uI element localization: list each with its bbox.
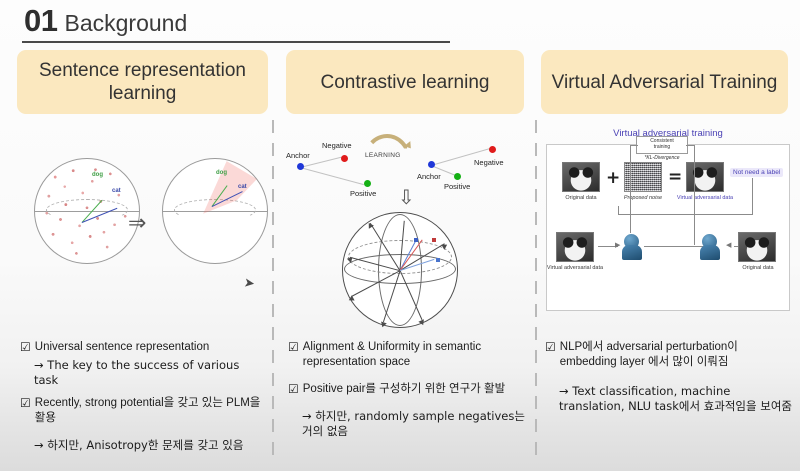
caption-original-data: Original data [554,195,608,201]
checkbox-icon: ☑ [545,340,556,355]
bullet-list-column-3: ☑ NLP에서 adversarial perturbation이 embedd… [545,340,793,423]
word-label-cat-left: cat [112,188,121,194]
figure-contrastive-learning: LEARNING Anchor Negative Positive Anchor… [286,130,530,330]
caption-original-data-bottom: Original data [730,265,786,271]
bullet-subtext: → 하지만, randomly sample negatives는 거의 없음 [302,409,530,439]
caption-proposed-noise: Proposed noise [616,195,670,201]
caption-virtual-adversarial-data: Virtual adversarial data [674,195,736,201]
panda-virtual-adversarial-bottom [556,232,594,262]
transform-arrow: ⇒ [128,211,146,236]
checkbox-icon: ☑ [288,340,299,355]
feedback-line-vertical-right [752,178,753,215]
positive-label-before: Positive [350,189,376,198]
anchor-label-after: Anchor [417,172,441,181]
consistency-bracket-top-left [630,145,638,146]
checkbox-icon: ☑ [20,396,31,411]
not-need-label-badge: Not need a label [730,168,783,177]
positive-dot-before [364,180,371,187]
triplet-line-before-2 [300,167,364,185]
figure-virtual-adversarial-training: Virtual adversarial training + = Origina… [544,128,792,318]
page-title: 01Background [24,4,464,46]
title-underline [22,41,450,43]
sample-point-blue-2 [436,258,440,262]
feedback-line-vertical-left [618,206,619,215]
bullet-text: Universal sentence representation [35,340,210,355]
section-title: Background [64,6,187,40]
sample-point-blue-1 [414,238,418,242]
plus-sign: + [606,168,620,188]
negative-label-after: Negative [474,158,504,167]
caption-virtual-adv-data-bottom-1: Virtual adversarial data [546,265,604,272]
sample-point-red [432,238,436,242]
anchor-label-before: Anchor [286,151,310,160]
bullet-subtext: → Text classification, machine translati… [559,384,793,414]
feedback-line-horizontal [618,214,753,215]
column-header-sentence-representation-learning: Sentence representation learning [17,50,268,114]
panda-original-image [562,162,600,192]
bullet-item: ☑ Recently, strong potential을 갖고 있는 PLM을… [20,396,266,426]
bullet-text: Positive pair를 구성하기 위한 연구가 활발 [303,382,505,397]
word-label-cat-right: cat [238,184,247,190]
section-number: 01 [24,4,57,38]
bullet-item: ☑ Alignment & Uniformity in semantic rep… [288,340,530,370]
consistency-bracket-top-right [686,145,695,146]
consistency-label-line2: training [636,144,688,150]
model-head-icon-left [622,234,642,260]
consistency-bracket-right [694,145,695,245]
flow-arrow-2: ◀ [726,241,731,249]
model-head-icon-right [700,234,720,260]
positive-dot-after [454,173,461,180]
presentation-slide: 01Background Sentence representation lea… [0,0,800,471]
uniformity-ray-head-3 [380,322,387,329]
checkbox-icon: ☑ [20,340,31,355]
bullet-text: Alignment & Uniformity in semantic repre… [303,340,530,370]
negative-dot-before [341,155,348,162]
flow-arrow-1: ▶ [615,241,620,249]
bullet-text: Recently, strong potential을 갖고 있는 PLM을 활… [35,396,266,426]
column-header-contrastive-learning: Contrastive learning [286,50,524,114]
checkbox-icon: ☑ [288,382,299,397]
bullet-subtext: → The key to the success of various task [34,358,266,388]
word-label-dog-left: dog [92,172,103,178]
word-label-dog-right: dog [216,170,227,176]
mouse-cursor: ➤ [243,275,254,289]
anchor-dot-after [428,161,435,168]
learning-label: LEARNING [365,152,401,159]
panda-original-bottom [738,232,776,262]
panda-adversarial-image [686,162,724,192]
bullet-list-column-2: ☑ Alignment & Uniformity in semantic rep… [288,340,530,448]
column-divider-2 [535,120,537,464]
kl-divergence-note: *KL-Divergence [636,155,688,161]
figure-embedding-spheres: dog cat ⇒ dog cat ➤ [16,136,266,326]
positive-label-after: Positive [444,182,470,191]
bullet-item: ☑ Positive pair를 구성하기 위한 연구가 활발 [288,382,530,397]
consistency-bracket-left [630,145,631,233]
down-arrow: ⇩ [398,185,415,209]
column-header-virtual-adversarial-training: Virtual Adversarial Training [541,50,788,114]
scatter-points-left [34,158,140,264]
bullet-item: ☑ NLP에서 adversarial perturbation이 embedd… [545,340,793,370]
negative-dot-after [489,146,496,153]
bullet-list-column-1: ☑ Universal sentence representation → Th… [20,340,266,462]
bullet-text: NLP에서 adversarial perturbation이 embeddin… [560,340,793,370]
bullet-subtext: → 하지만, Anisotropy한 문제를 갖고 있음 [34,438,266,453]
negative-label-before: Negative [322,141,352,150]
bullet-item: ☑ Universal sentence representation [20,340,266,355]
equals-sign: = [668,167,682,187]
anchor-dot-before [297,163,304,170]
column-divider-1 [272,120,274,464]
uniformity-ray-head-4 [418,319,426,326]
